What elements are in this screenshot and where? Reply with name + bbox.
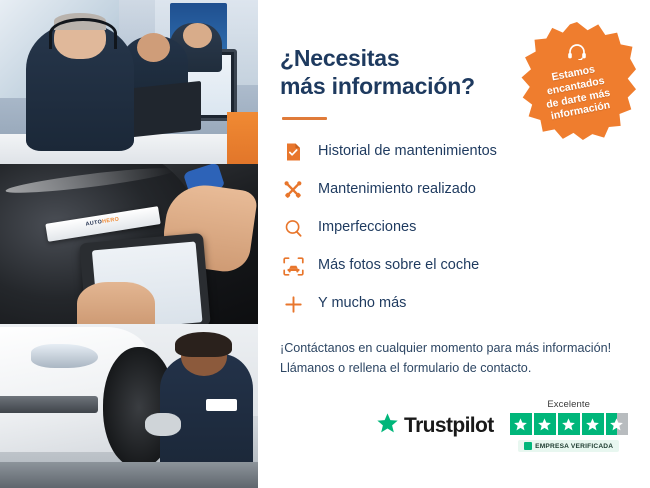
laptop [124,81,201,138]
status-badge: Estamos encantados de darte más informac… [518,22,636,140]
car-inspection-ruler-photo: AUTOHERO [0,164,258,324]
headline-line-1: ¿Necesitas [280,45,399,71]
feature-label: Y mucho más [318,295,406,312]
ruler-brand-suffix: HERO [102,217,120,226]
feature-label: Más fotos sobre el coche [318,257,479,274]
photo-gallery: AUTOHERO [0,0,258,488]
trustpilot-widget[interactable]: Trustpilot Excelente [376,399,628,452]
uniform-badge [206,399,237,410]
trustpilot-wordmark: Trustpilot [404,414,494,438]
page-title: ¿Necesitas más información? [280,44,515,100]
star-4 [582,413,604,435]
trustpilot-star-icon [376,412,399,440]
contact-paragraph: ¡Contáctanos en cualquier momento para m… [280,338,624,379]
clipboard-check-icon [280,140,306,164]
ruler-brand-prefix: AUTO [86,219,104,228]
feature-label: Historial de mantenimientos [318,143,497,160]
plus-icon [280,292,306,316]
workshop-bench [0,462,258,488]
check-icon [524,442,532,450]
content-panel: ¿Necesitas más información? Estamos enca… [258,0,650,488]
rating-label: Excelente [547,399,590,410]
technician-hair [175,332,232,357]
verified-label: EMPRESA VERIFICADA [535,443,613,450]
star-5-half [606,413,628,435]
inspector-hand-lower [77,282,154,324]
information-card: AUTOHERO ¿Necesitas más información? [0,0,650,488]
star-rating [510,413,628,435]
call-center-agents-photo [0,0,258,164]
headset-icon [567,44,587,65]
list-item: Y mucho más [280,292,624,316]
car-photo-frame-icon [280,254,306,278]
list-item: Historial de mantenimientos [280,140,624,164]
feature-list: Historial de mantenimientos Mantenimient… [280,140,624,316]
accent-divider [282,117,327,120]
list-item: Imperfecciones [280,216,624,240]
trustpilot-logo[interactable]: Trustpilot [376,412,494,452]
trustpilot-rating: Excelente [510,399,628,452]
headset-icon [49,18,117,49]
headlight [31,344,98,369]
star-1 [510,413,532,435]
magnifier-icon [280,216,306,240]
tools-cross-icon [280,178,306,202]
star-2 [534,413,556,435]
paragraph-line-2: Llámanos o rellena el formulario de cont… [280,361,531,375]
feature-label: Mantenimiento realizado [318,181,476,198]
feature-label: Imperfecciones [318,219,416,236]
front-grille [0,396,98,412]
list-item: Más fotos sobre el coche [280,254,624,278]
technician-glove [145,413,181,436]
list-item: Mantenimiento realizado [280,178,624,202]
orange-equipment [227,112,258,164]
star-3 [558,413,580,435]
background-agent-far-head [183,23,211,48]
technician-wheel-photo [0,324,258,488]
verified-badge: EMPRESA VERIFICADA [518,440,619,452]
paragraph-line-1: ¡Contáctanos en cualquier momento para m… [280,341,611,355]
headline-line-2: más información? [280,73,475,99]
